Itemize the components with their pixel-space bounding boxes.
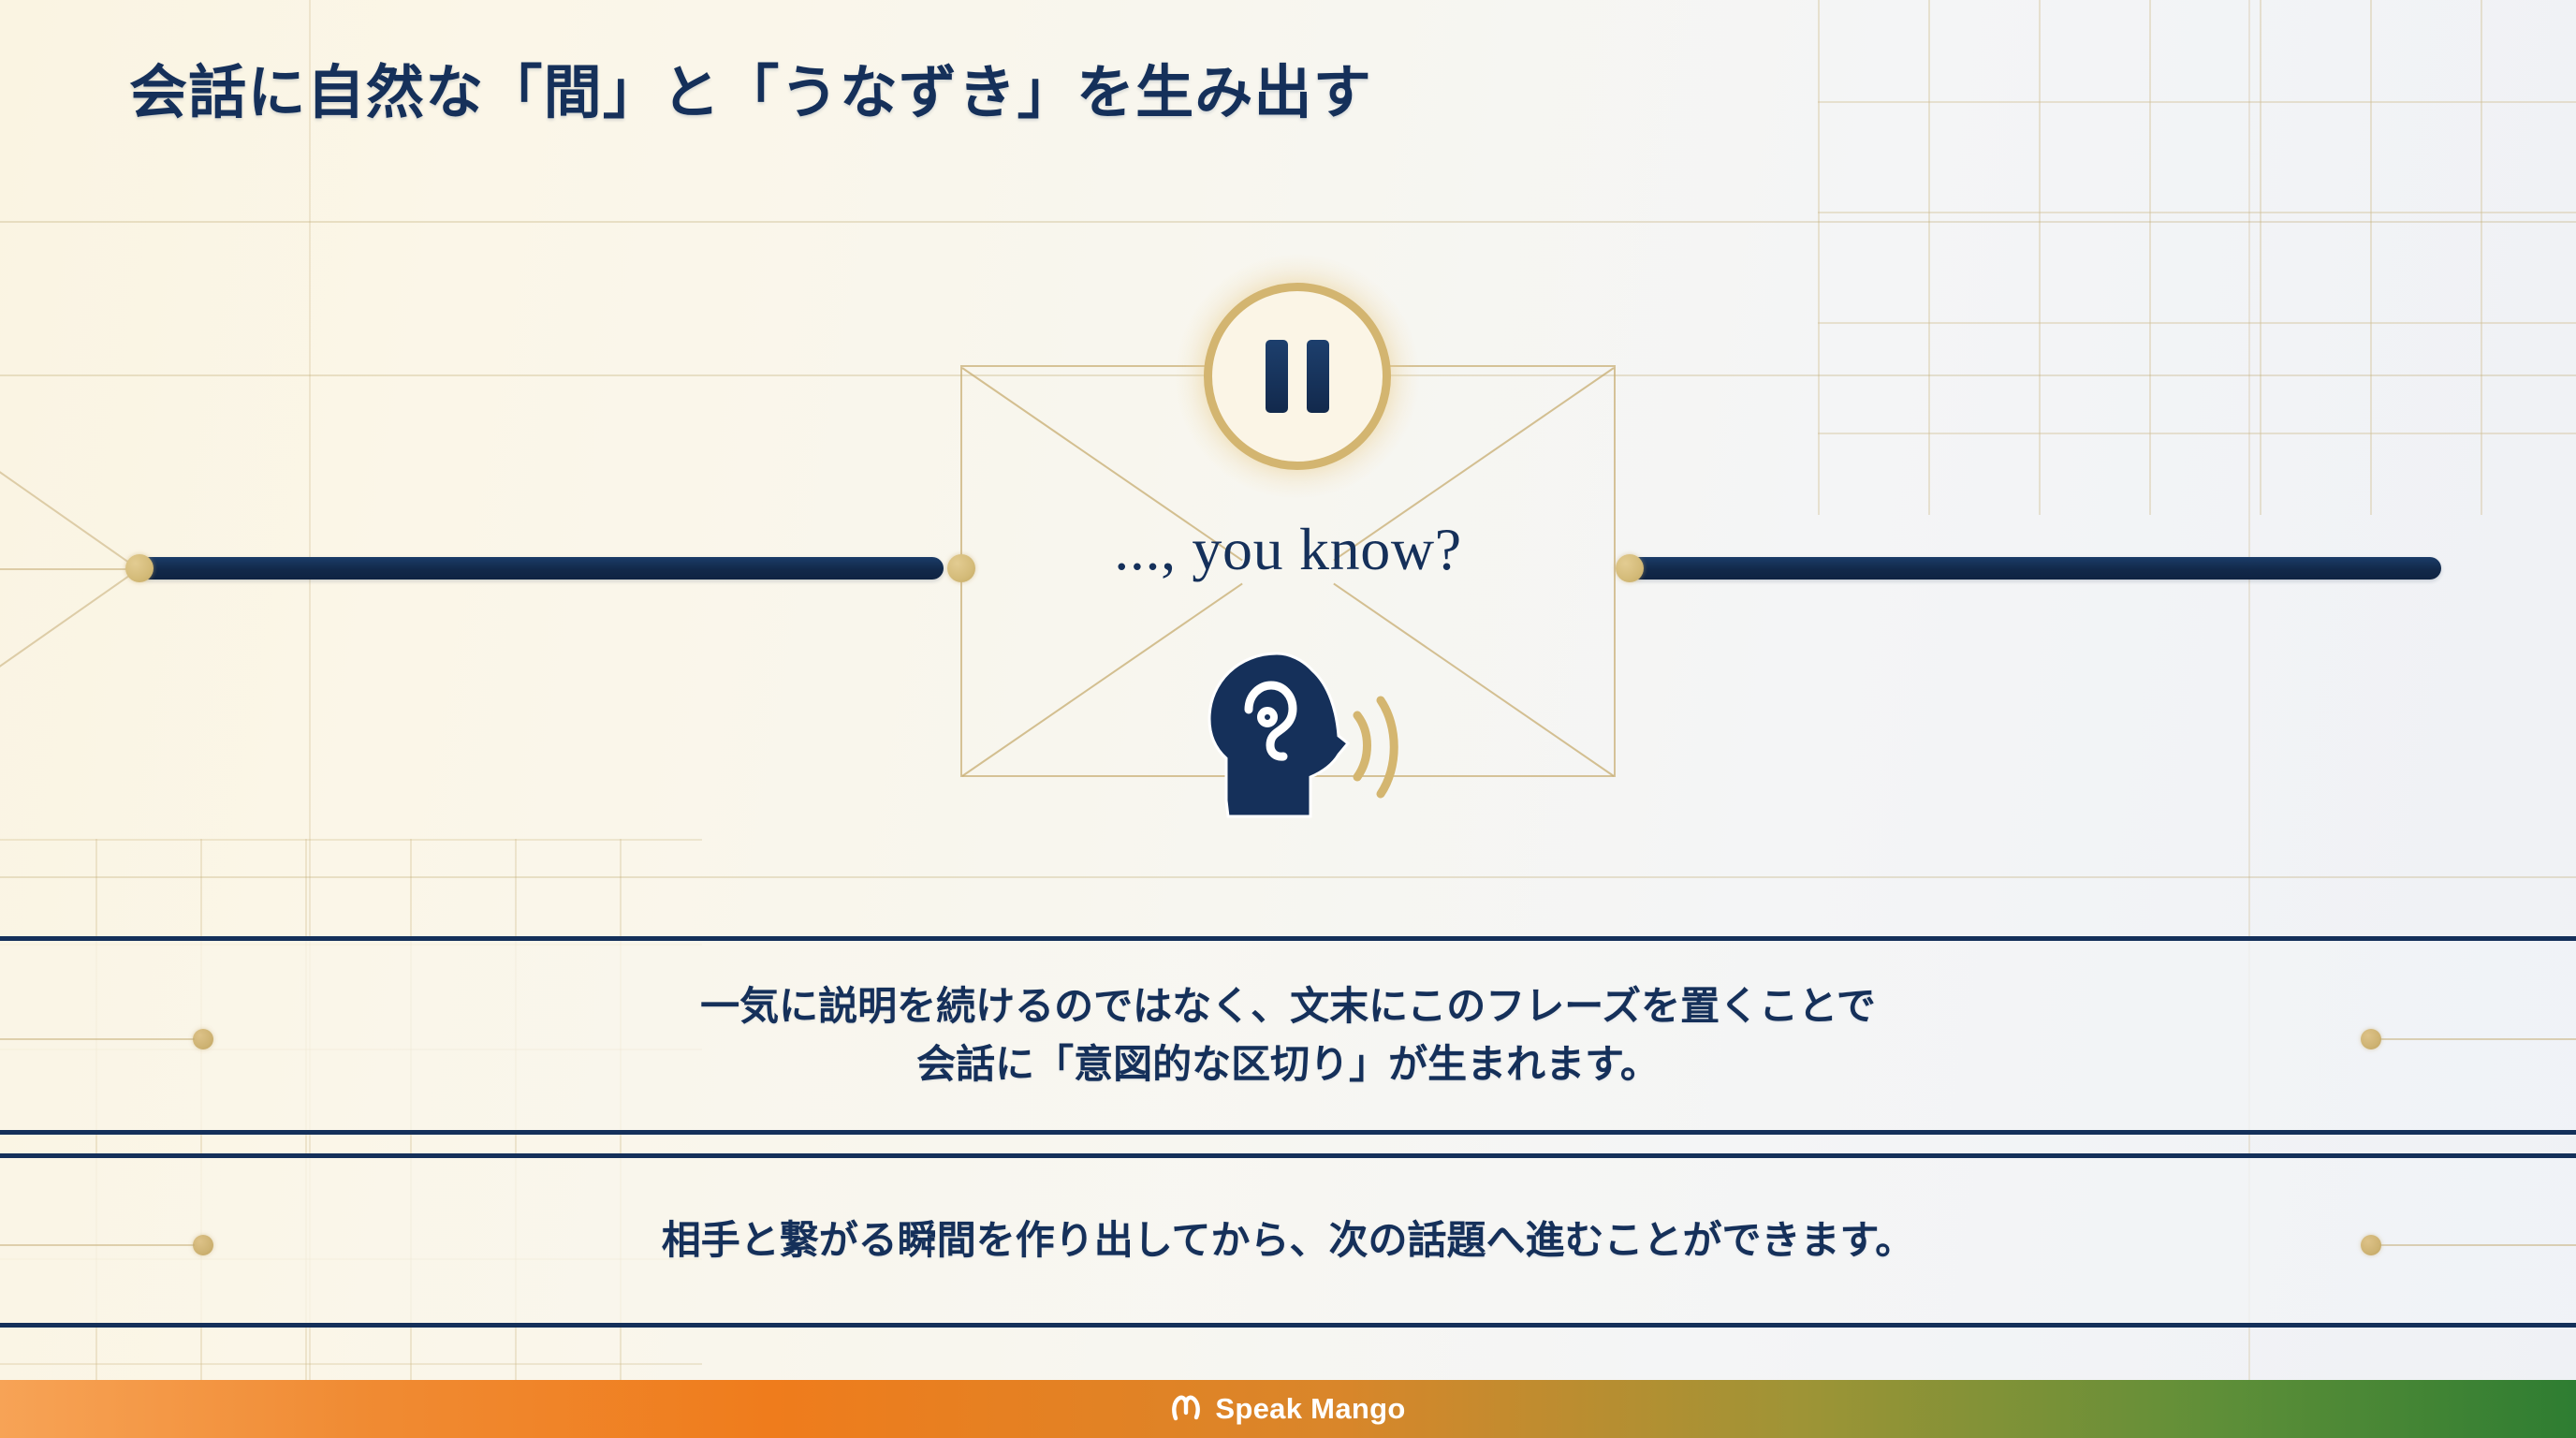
grid-bottom-left [0, 839, 702, 1438]
panel-dot-left [193, 1235, 213, 1255]
sound-wave-icon [1381, 700, 1394, 794]
mango-m-logo [1170, 1393, 1202, 1425]
key-phrase: ..., you know? [0, 515, 2576, 584]
spoke-line [0, 568, 139, 704]
sound-wave-icon [1357, 715, 1368, 777]
insight-panel-2: 相手と繋がる瞬間を作り出してから、次の話題へ進むことができます。 [0, 1153, 2576, 1328]
panel-connector-right [2379, 1038, 2576, 1040]
page-title: 会話に自然な「間」と「うなずき」を生み出す [129, 45, 1372, 129]
pause-bar-right [1307, 340, 1329, 413]
pause-bar-left [1266, 340, 1288, 413]
footer-bar: Speak Mango [0, 1380, 2576, 1438]
panel-dot-left [193, 1029, 213, 1049]
footer-brand-label: Speak Mango [1215, 1392, 1405, 1426]
panel-connector-right [2379, 1244, 2576, 1246]
pause-diagram: ..., you know? [0, 234, 2576, 889]
panel-text: 相手と繋がる瞬間を作り出してから、次の話題へ進むことができます。 [662, 1211, 1915, 1269]
listening-head-icon [1191, 646, 1406, 824]
slide-canvas: 会話に自然な「間」と「うなずき」を生み出す ..., you know? [0, 0, 2576, 1438]
panel-connector-left [0, 1244, 195, 1246]
panel-dot-right [2361, 1235, 2381, 1255]
hairline-horizontal [0, 221, 2576, 223]
insight-panel-1: 一気に説明を続けるのではなく、文末にこのフレーズを置くことで 会話に「意図的な区… [0, 936, 2576, 1135]
panel-connector-left [0, 1038, 195, 1040]
panel-text: 一気に説明を続けるのではなく、文末にこのフレーズを置くことで 会話に「意図的な区… [700, 977, 1876, 1093]
pause-icon [1204, 283, 1391, 470]
panel-dot-right [2361, 1029, 2381, 1049]
